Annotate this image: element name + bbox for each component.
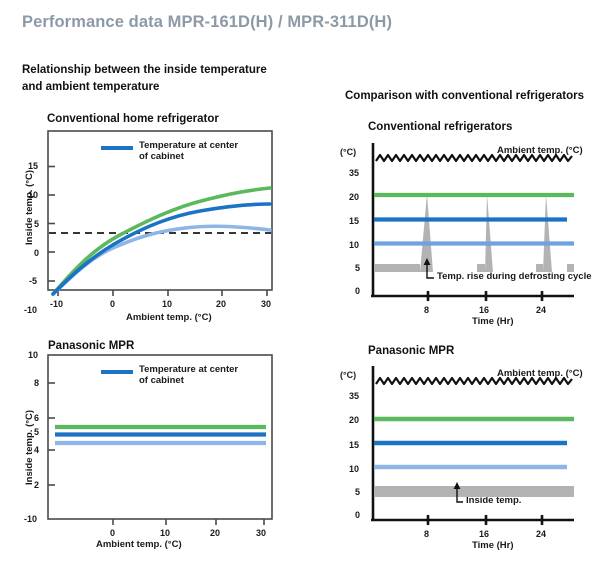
chart-4-ambient-zigzag [376, 378, 572, 384]
chart-4-plot [0, 0, 616, 563]
chart-4-series-gray-band [374, 486, 574, 497]
chart-panasonic-mpr-time: Panasonic MPR (°C) Ambient temp. (°C) In… [0, 0, 616, 563]
chart-4-annotation-arrow [454, 482, 461, 489]
